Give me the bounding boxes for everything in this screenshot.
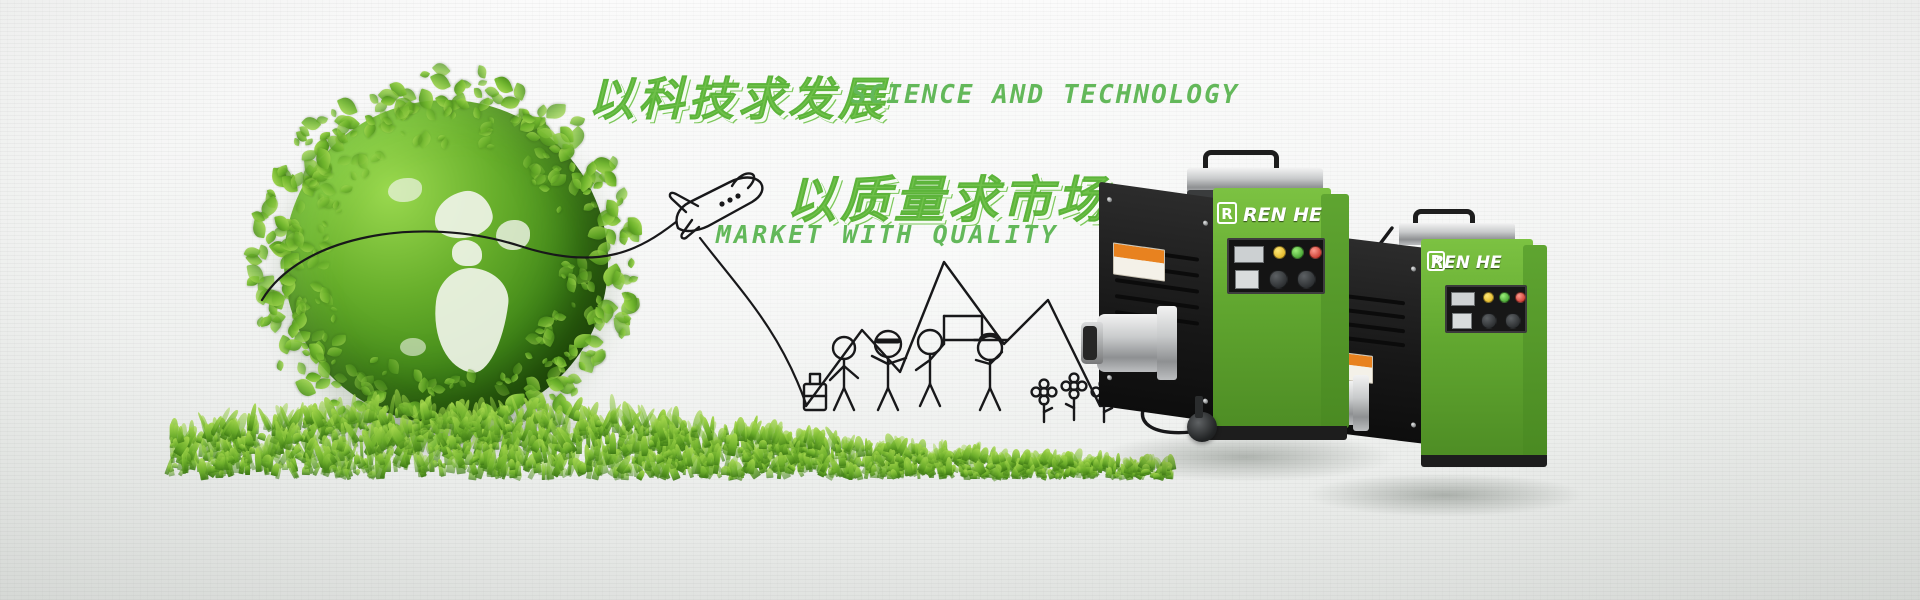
headline-1-chinese: 以科技求发展 [588,63,888,129]
toggle-switch[interactable] [1452,313,1472,329]
hero-banner: 以科技求发展 SCIENCE AND TECHNOLOGY 以质量求市场 MAR… [0,0,1920,600]
base-foot [1421,455,1547,467]
headline-block: 以科技求发展 SCIENCE AND TECHNOLOGY 以质量求市场 MAR… [0,0,1920,600]
indicator-light-red[interactable] [1309,246,1322,259]
control-panel [1227,238,1325,294]
indicator-light-red[interactable] [1515,292,1526,303]
machine-front: R REN HE [1095,150,1405,470]
brand-logo: REN HE [1243,204,1322,226]
brand-mark: R [1217,202,1237,224]
control-panel [1445,285,1527,333]
control-knob[interactable] [1505,313,1521,329]
caster-mount [1195,396,1203,418]
side-panel-black [1099,182,1217,423]
indicator-light-yellow[interactable] [1483,292,1494,303]
brand-mark: R [1427,251,1445,271]
base-foot [1207,426,1347,440]
control-knob[interactable] [1269,270,1288,289]
indicator-light-yellow[interactable] [1273,246,1286,259]
indicator-light-green[interactable] [1291,246,1304,259]
control-knob[interactable] [1481,313,1497,329]
control-knob[interactable] [1297,270,1316,289]
body-green-side [1523,245,1547,457]
machine-rear-shadow [1305,473,1585,517]
display-readout [1451,292,1475,306]
body-green-side [1321,194,1349,428]
indicator-light-green[interactable] [1499,292,1510,303]
toggle-switch[interactable] [1235,270,1259,289]
headline-1-english: SCIENCE AND TECHNOLOGY [851,80,1239,110]
display-readout [1234,246,1264,263]
headline-2-english: MARKET WITH QUALITY [716,220,1059,249]
